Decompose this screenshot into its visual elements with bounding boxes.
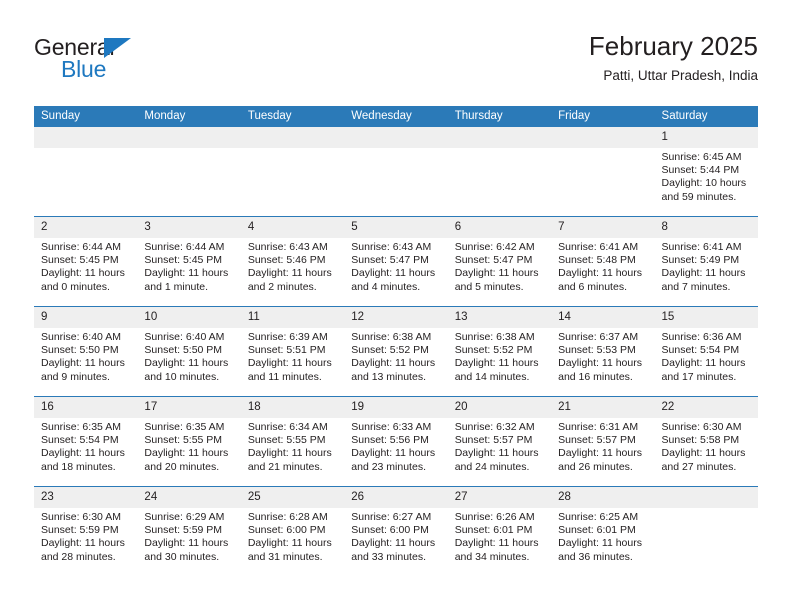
calendar-day-cell-empty (448, 127, 551, 217)
calendar-body: 1Sunrise: 6:45 AMSunset: 5:44 PMDaylight… (34, 127, 758, 576)
day-details: Sunrise: 6:45 AMSunset: 5:44 PMDaylight:… (655, 148, 758, 204)
sunset-time: Sunset: 5:53 PM (558, 344, 648, 357)
daylight-duration-line2: and 36 minutes. (558, 551, 648, 564)
daylight-duration-line2: and 24 minutes. (455, 461, 545, 474)
day-number: 13 (448, 307, 551, 328)
daylight-duration-line1: Daylight: 11 hours (41, 447, 131, 460)
calendar-day-cell[interactable]: 28Sunrise: 6:25 AMSunset: 6:01 PMDayligh… (551, 487, 654, 577)
sunset-time: Sunset: 5:51 PM (248, 344, 338, 357)
daylight-duration-line1: Daylight: 11 hours (248, 357, 338, 370)
calendar-day-cell[interactable]: 27Sunrise: 6:26 AMSunset: 6:01 PMDayligh… (448, 487, 551, 577)
sunrise-time: Sunrise: 6:40 AM (41, 331, 131, 344)
sunset-time: Sunset: 5:54 PM (662, 344, 752, 357)
daylight-duration-line2: and 18 minutes. (41, 461, 131, 474)
calendar-day-cell[interactable]: 6Sunrise: 6:42 AMSunset: 5:47 PMDaylight… (448, 217, 551, 307)
day-details: Sunrise: 6:35 AMSunset: 5:54 PMDaylight:… (34, 418, 137, 474)
calendar-day-cell-empty (551, 127, 654, 217)
page-subtitle: Patti, Uttar Pradesh, India (589, 66, 758, 86)
daylight-duration-line2: and 23 minutes. (351, 461, 441, 474)
weekday-header-friday: Friday (551, 106, 654, 127)
calendar-day-cell[interactable]: 22Sunrise: 6:30 AMSunset: 5:58 PMDayligh… (655, 397, 758, 487)
day-number (655, 487, 758, 508)
calendar-day-cell[interactable]: 26Sunrise: 6:27 AMSunset: 6:00 PMDayligh… (344, 487, 447, 577)
daylight-duration-line1: Daylight: 11 hours (558, 267, 648, 280)
day-details: Sunrise: 6:25 AMSunset: 6:01 PMDaylight:… (551, 508, 654, 564)
generalblue-logo: General Blue (34, 34, 214, 90)
sunrise-time: Sunrise: 6:37 AM (558, 331, 648, 344)
sunrise-time: Sunrise: 6:44 AM (41, 241, 131, 254)
day-details: Sunrise: 6:41 AMSunset: 5:49 PMDaylight:… (655, 238, 758, 294)
calendar-day-cell[interactable]: 17Sunrise: 6:35 AMSunset: 5:55 PMDayligh… (137, 397, 240, 487)
day-details: Sunrise: 6:30 AMSunset: 5:59 PMDaylight:… (34, 508, 137, 564)
sunrise-time: Sunrise: 6:36 AM (662, 331, 752, 344)
calendar-day-cell[interactable]: 4Sunrise: 6:43 AMSunset: 5:46 PMDaylight… (241, 217, 344, 307)
day-number: 27 (448, 487, 551, 508)
calendar-day-cell[interactable]: 20Sunrise: 6:32 AMSunset: 5:57 PMDayligh… (448, 397, 551, 487)
daylight-duration-line1: Daylight: 11 hours (41, 267, 131, 280)
day-number (448, 127, 551, 148)
sunset-time: Sunset: 5:57 PM (558, 434, 648, 447)
day-number: 21 (551, 397, 654, 418)
daylight-duration-line2: and 21 minutes. (248, 461, 338, 474)
daylight-duration-line2: and 34 minutes. (455, 551, 545, 564)
calendar-day-cell[interactable]: 13Sunrise: 6:38 AMSunset: 5:52 PMDayligh… (448, 307, 551, 397)
calendar-day-cell[interactable]: 19Sunrise: 6:33 AMSunset: 5:56 PMDayligh… (344, 397, 447, 487)
day-details: Sunrise: 6:38 AMSunset: 5:52 PMDaylight:… (448, 328, 551, 384)
calendar-day-cell[interactable]: 23Sunrise: 6:30 AMSunset: 5:59 PMDayligh… (34, 487, 137, 577)
day-number: 2 (34, 217, 137, 238)
day-details: Sunrise: 6:29 AMSunset: 5:59 PMDaylight:… (137, 508, 240, 564)
daylight-duration-line1: Daylight: 11 hours (41, 537, 131, 550)
day-number: 14 (551, 307, 654, 328)
sunset-time: Sunset: 5:49 PM (662, 254, 752, 267)
weekday-header-saturday: Saturday (655, 106, 758, 127)
calendar-week-row: 23Sunrise: 6:30 AMSunset: 5:59 PMDayligh… (34, 487, 758, 577)
calendar-week-row: 16Sunrise: 6:35 AMSunset: 5:54 PMDayligh… (34, 397, 758, 487)
day-details: Sunrise: 6:32 AMSunset: 5:57 PMDaylight:… (448, 418, 551, 474)
day-details: Sunrise: 6:28 AMSunset: 6:00 PMDaylight:… (241, 508, 344, 564)
sunrise-time: Sunrise: 6:39 AM (248, 331, 338, 344)
day-number: 28 (551, 487, 654, 508)
sunrise-time: Sunrise: 6:33 AM (351, 421, 441, 434)
day-number: 25 (241, 487, 344, 508)
calendar-week-row: 9Sunrise: 6:40 AMSunset: 5:50 PMDaylight… (34, 307, 758, 397)
daylight-duration-line2: and 0 minutes. (41, 281, 131, 294)
daylight-duration-line1: Daylight: 10 hours (662, 177, 752, 190)
sunrise-time: Sunrise: 6:30 AM (41, 511, 131, 524)
daylight-duration-line1: Daylight: 11 hours (662, 357, 752, 370)
sunset-time: Sunset: 5:59 PM (41, 524, 131, 537)
sunset-time: Sunset: 6:01 PM (558, 524, 648, 537)
calendar-day-cell-empty (344, 127, 447, 217)
sunset-time: Sunset: 5:48 PM (558, 254, 648, 267)
day-number: 22 (655, 397, 758, 418)
daylight-duration-line1: Daylight: 11 hours (144, 447, 234, 460)
sunset-time: Sunset: 5:58 PM (662, 434, 752, 447)
sunrise-time: Sunrise: 6:25 AM (558, 511, 648, 524)
day-details: Sunrise: 6:36 AMSunset: 5:54 PMDaylight:… (655, 328, 758, 384)
page-header: General Blue February 2025 Patti, Uttar … (34, 30, 758, 100)
daylight-duration-line2: and 14 minutes. (455, 371, 545, 384)
sunset-time: Sunset: 5:56 PM (351, 434, 441, 447)
sunset-time: Sunset: 5:55 PM (248, 434, 338, 447)
daylight-duration-line2: and 4 minutes. (351, 281, 441, 294)
daylight-duration-line1: Daylight: 11 hours (144, 357, 234, 370)
daylight-duration-line2: and 13 minutes. (351, 371, 441, 384)
day-details: Sunrise: 6:34 AMSunset: 5:55 PMDaylight:… (241, 418, 344, 474)
sunset-time: Sunset: 5:50 PM (41, 344, 131, 357)
sunrise-time: Sunrise: 6:27 AM (351, 511, 441, 524)
daylight-duration-line2: and 26 minutes. (558, 461, 648, 474)
sunrise-time: Sunrise: 6:43 AM (248, 241, 338, 254)
day-details: Sunrise: 6:27 AMSunset: 6:00 PMDaylight:… (344, 508, 447, 564)
day-details: Sunrise: 6:30 AMSunset: 5:58 PMDaylight:… (655, 418, 758, 474)
day-details: Sunrise: 6:37 AMSunset: 5:53 PMDaylight:… (551, 328, 654, 384)
daylight-duration-line1: Daylight: 11 hours (351, 537, 441, 550)
daylight-duration-line2: and 20 minutes. (144, 461, 234, 474)
day-number: 17 (137, 397, 240, 418)
sunrise-time: Sunrise: 6:41 AM (662, 241, 752, 254)
day-number: 18 (241, 397, 344, 418)
day-number: 19 (344, 397, 447, 418)
daylight-duration-line1: Daylight: 11 hours (558, 537, 648, 550)
calendar-header-row-group: Sunday Monday Tuesday Wednesday Thursday… (34, 106, 758, 127)
daylight-duration-line1: Daylight: 11 hours (144, 537, 234, 550)
calendar-day-cell-empty (34, 127, 137, 217)
sunset-time: Sunset: 5:52 PM (455, 344, 545, 357)
day-details: Sunrise: 6:38 AMSunset: 5:52 PMDaylight:… (344, 328, 447, 384)
sunrise-time: Sunrise: 6:31 AM (558, 421, 648, 434)
sunrise-time: Sunrise: 6:32 AM (455, 421, 545, 434)
day-number: 5 (344, 217, 447, 238)
daylight-duration-line1: Daylight: 11 hours (662, 267, 752, 280)
sunset-time: Sunset: 5:47 PM (455, 254, 545, 267)
daylight-duration-line2: and 17 minutes. (662, 371, 752, 384)
calendar-day-cell[interactable]: 21Sunrise: 6:31 AMSunset: 5:57 PMDayligh… (551, 397, 654, 487)
day-details: Sunrise: 6:40 AMSunset: 5:50 PMDaylight:… (34, 328, 137, 384)
calendar-day-cell[interactable]: 7Sunrise: 6:41 AMSunset: 5:48 PMDaylight… (551, 217, 654, 307)
daylight-duration-line2: and 28 minutes. (41, 551, 131, 564)
day-number: 15 (655, 307, 758, 328)
daylight-duration-line2: and 30 minutes. (144, 551, 234, 564)
daylight-duration-line1: Daylight: 11 hours (351, 267, 441, 280)
calendar-day-cell[interactable]: 25Sunrise: 6:28 AMSunset: 6:00 PMDayligh… (241, 487, 344, 577)
day-number: 3 (137, 217, 240, 238)
page-title: February 2025 (589, 30, 758, 62)
calendar-page: General Blue February 2025 Patti, Uttar … (0, 0, 792, 612)
daylight-duration-line2: and 10 minutes. (144, 371, 234, 384)
daylight-duration-line1: Daylight: 11 hours (455, 357, 545, 370)
day-number (34, 127, 137, 148)
day-number: 6 (448, 217, 551, 238)
sunset-time: Sunset: 6:01 PM (455, 524, 545, 537)
sunset-time: Sunset: 5:47 PM (351, 254, 441, 267)
day-number: 11 (241, 307, 344, 328)
sunset-time: Sunset: 5:57 PM (455, 434, 545, 447)
sunrise-time: Sunrise: 6:43 AM (351, 241, 441, 254)
sunset-time: Sunset: 6:00 PM (248, 524, 338, 537)
day-details: Sunrise: 6:44 AMSunset: 5:45 PMDaylight:… (137, 238, 240, 294)
calendar-week-row: 1Sunrise: 6:45 AMSunset: 5:44 PMDaylight… (34, 127, 758, 217)
sunset-time: Sunset: 5:46 PM (248, 254, 338, 267)
daylight-duration-line1: Daylight: 11 hours (455, 537, 545, 550)
day-details: Sunrise: 6:26 AMSunset: 6:01 PMDaylight:… (448, 508, 551, 564)
calendar-day-cell[interactable]: 15Sunrise: 6:36 AMSunset: 5:54 PMDayligh… (655, 307, 758, 397)
calendar-day-cell-empty (241, 127, 344, 217)
day-number: 7 (551, 217, 654, 238)
calendar-day-cell[interactable]: 5Sunrise: 6:43 AMSunset: 5:47 PMDaylight… (344, 217, 447, 307)
daylight-duration-line1: Daylight: 11 hours (558, 357, 648, 370)
calendar-day-cell[interactable]: 10Sunrise: 6:40 AMSunset: 5:50 PMDayligh… (137, 307, 240, 397)
sunset-time: Sunset: 5:50 PM (144, 344, 234, 357)
sunset-time: Sunset: 5:59 PM (144, 524, 234, 537)
sunrise-time: Sunrise: 6:42 AM (455, 241, 545, 254)
sunset-time: Sunset: 5:44 PM (662, 164, 752, 177)
daylight-duration-line1: Daylight: 11 hours (455, 267, 545, 280)
sunrise-time: Sunrise: 6:28 AM (248, 511, 338, 524)
sunrise-time: Sunrise: 6:38 AM (455, 331, 545, 344)
day-number: 4 (241, 217, 344, 238)
title-block: February 2025 Patti, Uttar Pradesh, Indi… (589, 30, 758, 86)
day-number: 24 (137, 487, 240, 508)
sunrise-time: Sunrise: 6:38 AM (351, 331, 441, 344)
sunset-time: Sunset: 5:55 PM (144, 434, 234, 447)
weekday-header-thursday: Thursday (448, 106, 551, 127)
day-details: Sunrise: 6:35 AMSunset: 5:55 PMDaylight:… (137, 418, 240, 474)
sunset-time: Sunset: 5:45 PM (41, 254, 131, 267)
daylight-duration-line2: and 1 minute. (144, 281, 234, 294)
day-number: 9 (34, 307, 137, 328)
day-number (344, 127, 447, 148)
sunrise-time: Sunrise: 6:34 AM (248, 421, 338, 434)
sunrise-time: Sunrise: 6:35 AM (144, 421, 234, 434)
sunrise-time: Sunrise: 6:44 AM (144, 241, 234, 254)
daylight-duration-line2: and 27 minutes. (662, 461, 752, 474)
daylight-duration-line1: Daylight: 11 hours (144, 267, 234, 280)
day-number: 12 (344, 307, 447, 328)
sunset-time: Sunset: 5:52 PM (351, 344, 441, 357)
daylight-duration-line2: and 7 minutes. (662, 281, 752, 294)
sunset-time: Sunset: 5:54 PM (41, 434, 131, 447)
sunrise-time: Sunrise: 6:41 AM (558, 241, 648, 254)
day-details: Sunrise: 6:43 AMSunset: 5:47 PMDaylight:… (344, 238, 447, 294)
daylight-duration-line2: and 2 minutes. (248, 281, 338, 294)
daylight-duration-line1: Daylight: 11 hours (248, 267, 338, 280)
day-number: 26 (344, 487, 447, 508)
daylight-duration-line2: and 16 minutes. (558, 371, 648, 384)
daylight-duration-line1: Daylight: 11 hours (455, 447, 545, 460)
daylight-duration-line2: and 5 minutes. (455, 281, 545, 294)
daylight-duration-line2: and 11 minutes. (248, 371, 338, 384)
sunrise-time: Sunrise: 6:29 AM (144, 511, 234, 524)
daylight-duration-line1: Daylight: 11 hours (248, 447, 338, 460)
day-number (551, 127, 654, 148)
calendar-day-cell[interactable]: 18Sunrise: 6:34 AMSunset: 5:55 PMDayligh… (241, 397, 344, 487)
daylight-duration-line1: Daylight: 11 hours (351, 447, 441, 460)
day-number: 10 (137, 307, 240, 328)
logo-triangle-icon (104, 38, 131, 58)
daylight-duration-line1: Daylight: 11 hours (41, 357, 131, 370)
day-details: Sunrise: 6:42 AMSunset: 5:47 PMDaylight:… (448, 238, 551, 294)
day-number: 8 (655, 217, 758, 238)
calendar-day-cell[interactable]: 24Sunrise: 6:29 AMSunset: 5:59 PMDayligh… (137, 487, 240, 577)
weekday-header-sunday: Sunday (34, 106, 137, 127)
day-details: Sunrise: 6:31 AMSunset: 5:57 PMDaylight:… (551, 418, 654, 474)
day-number (137, 127, 240, 148)
calendar-day-cell[interactable]: 8Sunrise: 6:41 AMSunset: 5:49 PMDaylight… (655, 217, 758, 307)
daylight-duration-line1: Daylight: 11 hours (248, 537, 338, 550)
day-details: Sunrise: 6:33 AMSunset: 5:56 PMDaylight:… (344, 418, 447, 474)
calendar-day-cell[interactable]: 2Sunrise: 6:44 AMSunset: 5:45 PMDaylight… (34, 217, 137, 307)
sunrise-time: Sunrise: 6:40 AM (144, 331, 234, 344)
calendar-day-cell[interactable]: 14Sunrise: 6:37 AMSunset: 5:53 PMDayligh… (551, 307, 654, 397)
daylight-duration-line2: and 59 minutes. (662, 191, 752, 204)
day-details: Sunrise: 6:39 AMSunset: 5:51 PMDaylight:… (241, 328, 344, 384)
weekday-header-monday: Monday (137, 106, 240, 127)
daylight-duration-line1: Daylight: 11 hours (662, 447, 752, 460)
day-details: Sunrise: 6:43 AMSunset: 5:46 PMDaylight:… (241, 238, 344, 294)
day-details: Sunrise: 6:40 AMSunset: 5:50 PMDaylight:… (137, 328, 240, 384)
calendar-day-cell[interactable]: 12Sunrise: 6:38 AMSunset: 5:52 PMDayligh… (344, 307, 447, 397)
calendar-day-cell-empty (655, 487, 758, 577)
sunset-time: Sunset: 5:45 PM (144, 254, 234, 267)
logo-text-blue: Blue (61, 56, 106, 83)
day-number: 23 (34, 487, 137, 508)
calendar-week-row: 2Sunrise: 6:44 AMSunset: 5:45 PMDaylight… (34, 217, 758, 307)
calendar-day-cell[interactable]: 16Sunrise: 6:35 AMSunset: 5:54 PMDayligh… (34, 397, 137, 487)
calendar-day-cell[interactable]: 9Sunrise: 6:40 AMSunset: 5:50 PMDaylight… (34, 307, 137, 397)
sunrise-sunset-calendar-table: Sunday Monday Tuesday Wednesday Thursday… (34, 106, 758, 576)
daylight-duration-line2: and 9 minutes. (41, 371, 131, 384)
weekday-header-row: Sunday Monday Tuesday Wednesday Thursday… (34, 106, 758, 127)
sunrise-time: Sunrise: 6:26 AM (455, 511, 545, 524)
day-number: 16 (34, 397, 137, 418)
calendar-day-cell-empty (137, 127, 240, 217)
calendar-day-cell[interactable]: 1Sunrise: 6:45 AMSunset: 5:44 PMDaylight… (655, 127, 758, 217)
daylight-duration-line2: and 33 minutes. (351, 551, 441, 564)
sunrise-time: Sunrise: 6:35 AM (41, 421, 131, 434)
day-number: 20 (448, 397, 551, 418)
calendar-day-cell[interactable]: 11Sunrise: 6:39 AMSunset: 5:51 PMDayligh… (241, 307, 344, 397)
daylight-duration-line2: and 6 minutes. (558, 281, 648, 294)
daylight-duration-line2: and 31 minutes. (248, 551, 338, 564)
day-details: Sunrise: 6:44 AMSunset: 5:45 PMDaylight:… (34, 238, 137, 294)
day-details: Sunrise: 6:41 AMSunset: 5:48 PMDaylight:… (551, 238, 654, 294)
calendar-day-cell[interactable]: 3Sunrise: 6:44 AMSunset: 5:45 PMDaylight… (137, 217, 240, 307)
sunset-time: Sunset: 6:00 PM (351, 524, 441, 537)
sunrise-time: Sunrise: 6:30 AM (662, 421, 752, 434)
daylight-duration-line1: Daylight: 11 hours (351, 357, 441, 370)
daylight-duration-line1: Daylight: 11 hours (558, 447, 648, 460)
sunrise-time: Sunrise: 6:45 AM (662, 151, 752, 164)
weekday-header-tuesday: Tuesday (241, 106, 344, 127)
day-number (241, 127, 344, 148)
day-number: 1 (655, 127, 758, 148)
weekday-header-wednesday: Wednesday (344, 106, 447, 127)
